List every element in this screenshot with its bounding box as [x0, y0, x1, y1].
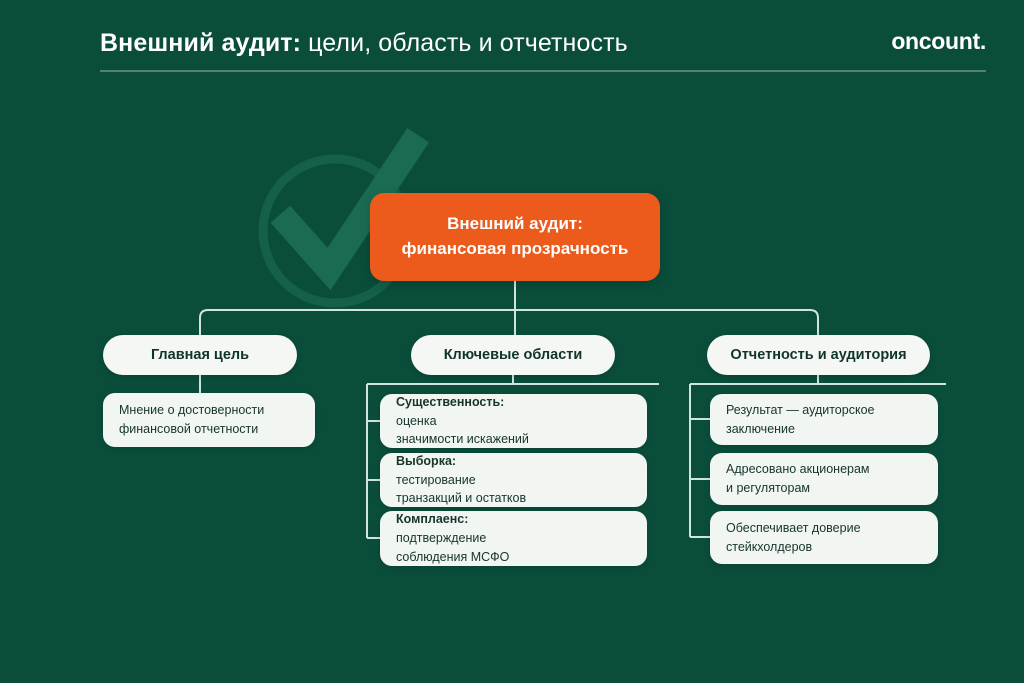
brand-logo: oncount. — [891, 28, 986, 55]
page-title-rest: цели, область и отчетность — [301, 29, 628, 57]
slide-root: Внешний аудит: цели, область и отчетност… — [0, 0, 1024, 683]
card-reporting-1-line2: заключение — [726, 420, 874, 439]
card-reporting-1[interactable]: Результат — аудиторское заключение — [710, 394, 938, 445]
card-reporting-3-line2: стейкхолдеров — [726, 538, 861, 557]
branch-head-main-goal[interactable]: Главная цель — [103, 335, 297, 375]
card-key-areas-1[interactable]: Существенность: оценка значимости искаже… — [380, 394, 647, 448]
root-node-line1: Внешний аудит: — [447, 212, 583, 237]
card-key-areas-3-lead: Комплаенс: — [396, 512, 468, 526]
card-reporting-3-line1: Обеспечивает доверие — [726, 519, 861, 538]
card-key-areas-1-lead: Существенность: — [396, 395, 504, 409]
branch-head-reporting[interactable]: Отчетность и аудитория — [707, 335, 930, 375]
card-reporting-2[interactable]: Адресовано акционерам и регуляторам — [710, 453, 938, 505]
card-main-goal-1[interactable]: Мнение о достоверности финансовой отчетн… — [103, 393, 315, 447]
page-title-bold: Внешний аудит: — [100, 29, 301, 57]
card-key-areas-1-tail: оценка — [396, 412, 529, 431]
root-node-line2: финансовая прозрачность — [402, 237, 629, 262]
card-key-areas-1-line1: Существенность: оценка — [396, 393, 529, 431]
card-key-areas-1-line2: значимости искажений — [396, 430, 529, 449]
card-reporting-2-line2: и регуляторам — [726, 479, 870, 498]
branch-head-key-areas[interactable]: Ключевые области — [411, 335, 615, 375]
page-title: Внешний аудит: цели, область и отчетност… — [100, 29, 628, 58]
card-key-areas-3-tail: подтверждение — [396, 529, 509, 548]
card-reporting-2-line1: Адресовано акционерам — [726, 460, 870, 479]
slide-header: Внешний аудит: цели, область и отчетност… — [0, 0, 1024, 80]
card-key-areas-3-line1: Комплаенс: подтверждение — [396, 510, 509, 548]
card-key-areas-2-line2: транзакций и остатков — [396, 489, 526, 508]
card-key-areas-2[interactable]: Выборка: тестирование транзакций и остат… — [380, 453, 647, 507]
header-divider — [100, 70, 986, 72]
card-key-areas-2-lead: Выборка: — [396, 454, 456, 468]
card-key-areas-2-line1: Выборка: тестирование — [396, 452, 526, 490]
card-key-areas-2-tail: тестирование — [396, 471, 526, 490]
card-reporting-3[interactable]: Обеспечивает доверие стейкхолдеров — [710, 511, 938, 564]
card-main-goal-1-line1: Мнение о достоверности — [119, 401, 264, 420]
card-main-goal-1-line2: финансовой отчетности — [119, 420, 264, 439]
card-reporting-1-line1: Результат — аудиторское — [726, 401, 874, 420]
root-node[interactable]: Внешний аудит: финансовая прозрачность — [370, 193, 660, 281]
card-key-areas-3[interactable]: Комплаенс: подтверждение соблюдения МСФО — [380, 511, 647, 566]
card-key-areas-3-line2: соблюдения МСФО — [396, 548, 509, 567]
